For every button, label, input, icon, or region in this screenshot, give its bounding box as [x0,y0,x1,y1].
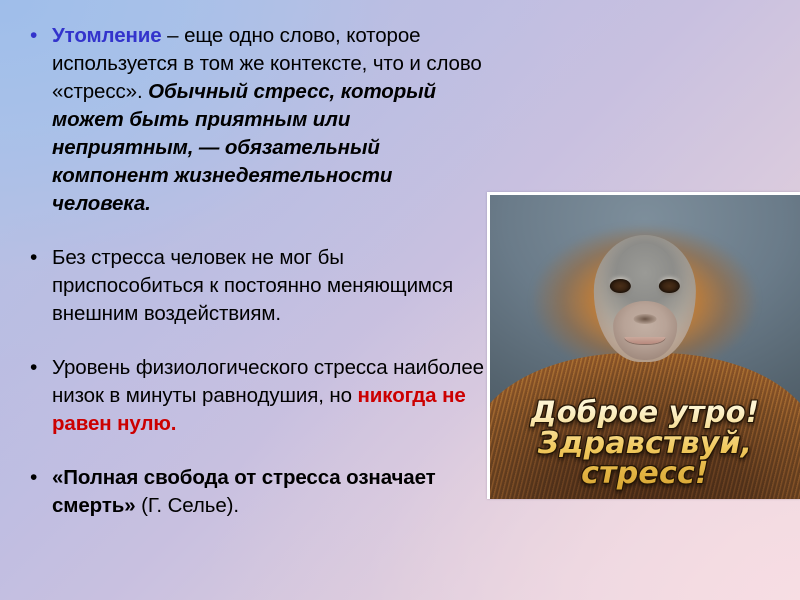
bullet-marker-icon: • [18,244,52,272]
bullet-item-4: • «Полная свобода от стресса означает см… [18,464,486,520]
bullet-item-2: • Без стресса человек не мог бы приспосо… [18,244,486,328]
orangutan-photo: Доброе утро! Здравствуй, стресс! [490,195,800,499]
bullet-4-quote-text: «Полная свобода от стресса означает смер… [52,466,436,517]
bullet-text-4: «Полная свобода от стресса означает смер… [52,464,486,520]
ape-face [594,235,696,363]
bullet-item-1: • Утомление – еще одно слово, которое ис… [18,22,486,218]
ape-muzzle [613,301,676,360]
ape-nose [634,314,657,324]
bullet-list: • Утомление – еще одно слово, которое ис… [18,22,486,520]
highlighted-term-utomlenie: Утомление [52,24,162,47]
orangutan-photo-frame: Доброе утро! Здравствуй, стресс! [487,192,800,499]
photo-caption-line-2: Здравствуй, стресс! [490,429,800,490]
bullet-text-3: Уровень физиологического стресса наиболе… [52,354,486,438]
ape-eye-right [659,279,679,293]
bullet-text-2: Без стресса человек не мог бы приспособи… [52,244,486,328]
bullet-marker-icon: • [18,464,52,492]
slide-canvas: • Утомление – еще одно слово, которое ис… [0,0,800,600]
photo-caption: Доброе утро! Здравствуй, стресс! [490,398,800,490]
bullet-text-1: Утомление – еще одно слово, которое испо… [52,22,486,218]
bullet-2-plain-text: Без стресса человек не мог бы приспособи… [52,246,453,325]
bullet-4-attribution-text: (Г. Селье). [136,494,239,517]
ape-eye-left [610,279,630,293]
bullet-marker-icon: • [18,354,52,382]
bullet-item-3: • Уровень физиологического стресса наибо… [18,354,486,438]
photo-caption-line-1: Доброе утро! [490,398,800,428]
bullet-marker-icon: • [18,22,52,50]
